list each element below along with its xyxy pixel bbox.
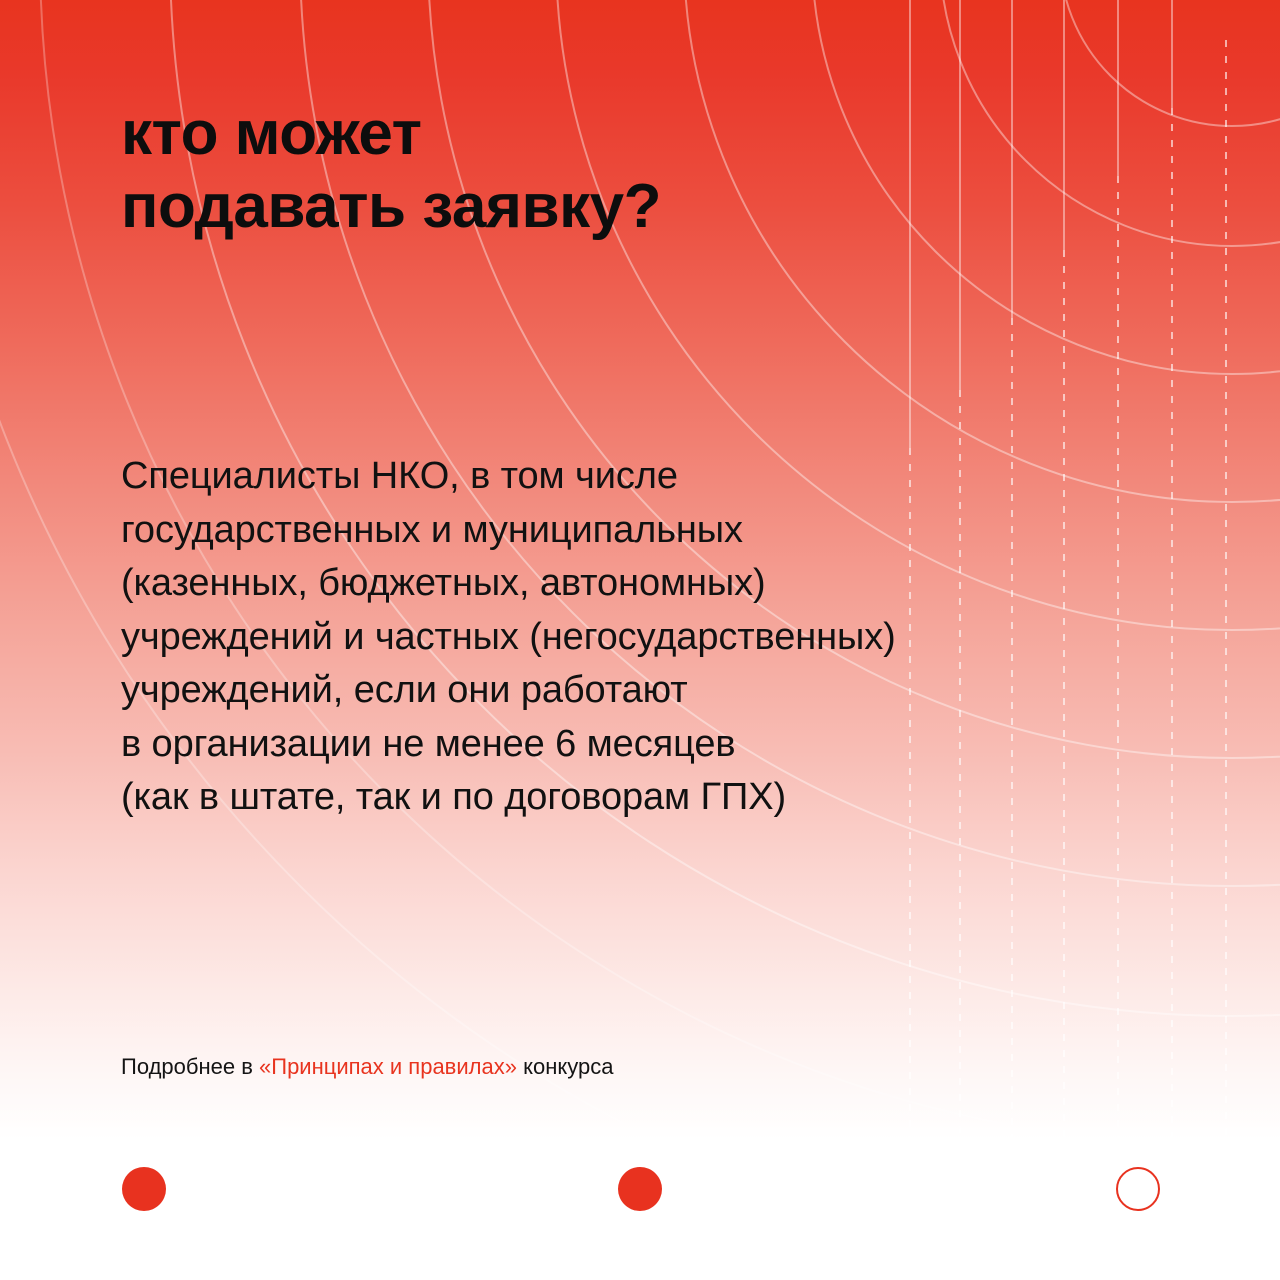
footnote-suffix: конкурса [517,1054,613,1079]
footnote: Подробнее в «Принципах и правилах» конку… [121,1052,613,1082]
pagination-dot-1[interactable] [122,1167,166,1211]
slide-content: кто может подавать заявку? Специалисты Н… [0,0,1280,1280]
pagination-dot-2[interactable] [618,1167,662,1211]
eligibility-description: Специалисты НКО, в том числе государстве… [121,450,1181,825]
footnote-prefix: Подробнее в [121,1054,259,1079]
promo-slide: кто может подавать заявку? Специалисты Н… [0,0,1280,1280]
pagination-dots [0,1167,1280,1213]
pagination-dot-3[interactable] [1116,1167,1160,1211]
rules-link[interactable]: «Принципах и правилах» [259,1054,517,1079]
page-title: кто может подавать заявку? [121,97,1021,243]
